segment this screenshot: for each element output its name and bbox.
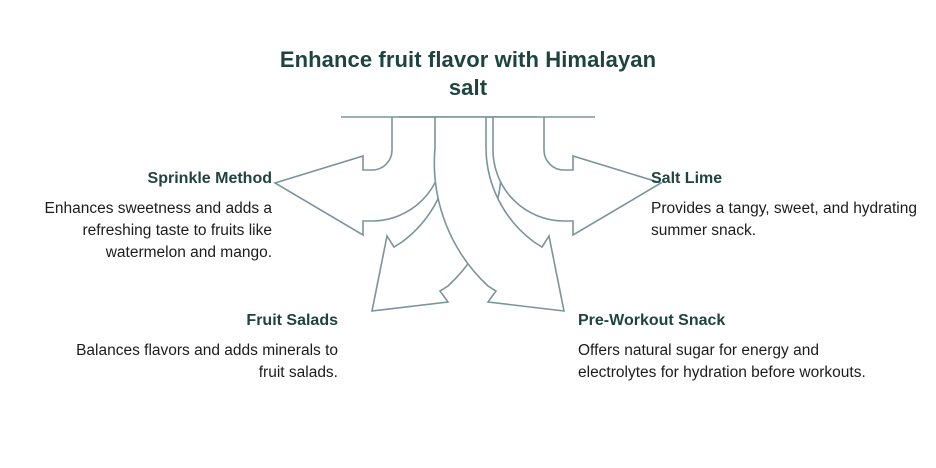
diagram-canvas: Enhance fruit flavor with Himalayan salt… bbox=[0, 0, 936, 468]
callout-heading-fruit-salads: Fruit Salads bbox=[66, 310, 338, 331]
fanning-arrows-graphic bbox=[262, 110, 674, 320]
callout-body-fruit-salads: Balances flavors and adds minerals to fr… bbox=[66, 331, 338, 384]
callout-pre-workout-snack: Pre-Workout Snack Offers natural sugar f… bbox=[578, 310, 868, 384]
arrow-left bbox=[275, 117, 443, 235]
callout-sprinkle-method: Sprinkle Method Enhances sweetness and a… bbox=[14, 168, 272, 264]
callout-body-pre-workout-snack: Offers natural sugar for energy and elec… bbox=[578, 331, 868, 384]
callout-body-sprinkle-method: Enhances sweetness and adds a refreshing… bbox=[14, 189, 272, 264]
callout-fruit-salads: Fruit Salads Balances flavors and adds m… bbox=[66, 310, 338, 384]
page-title: Enhance fruit flavor with Himalayan salt bbox=[268, 46, 668, 102]
callout-salt-lime: Salt Lime Provides a tangy, sweet, and h… bbox=[651, 168, 923, 242]
callout-heading-sprinkle-method: Sprinkle Method bbox=[14, 168, 272, 189]
callout-heading-pre-workout-snack: Pre-Workout Snack bbox=[578, 310, 868, 331]
arrow-right bbox=[493, 117, 661, 235]
callout-body-salt-lime: Provides a tangy, sweet, and hydrating s… bbox=[651, 189, 923, 242]
callout-heading-salt-lime: Salt Lime bbox=[651, 168, 923, 189]
